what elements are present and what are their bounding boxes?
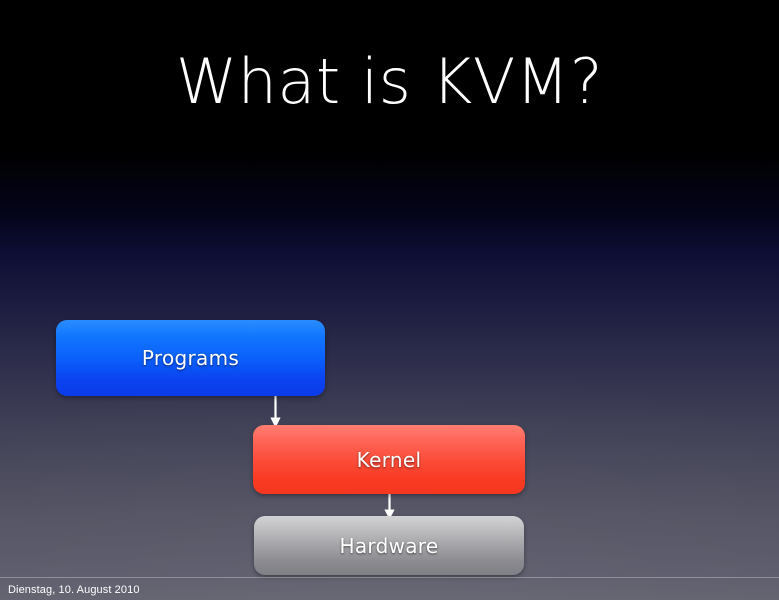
diagram-box-programs[interactable]: Programs <box>56 320 325 396</box>
footer-date: Dienstag, 10. August 2010 <box>8 583 140 597</box>
arrow-programs-to-kernel-icon <box>267 392 284 429</box>
diagram-box-kernel[interactable]: Kernel <box>253 425 525 494</box>
page-title: What is KVM? <box>0 44 779 120</box>
footer-divider <box>0 577 779 578</box>
slide-canvas: What is KVM? Programs Kernel Hardware Di… <box>0 0 779 600</box>
diagram-box-hardware-label: Hardware <box>340 534 439 558</box>
diagram-box-hardware[interactable]: Hardware <box>254 516 524 575</box>
diagram-box-kernel-label: Kernel <box>357 448 422 472</box>
diagram-box-programs-label: Programs <box>142 346 239 370</box>
